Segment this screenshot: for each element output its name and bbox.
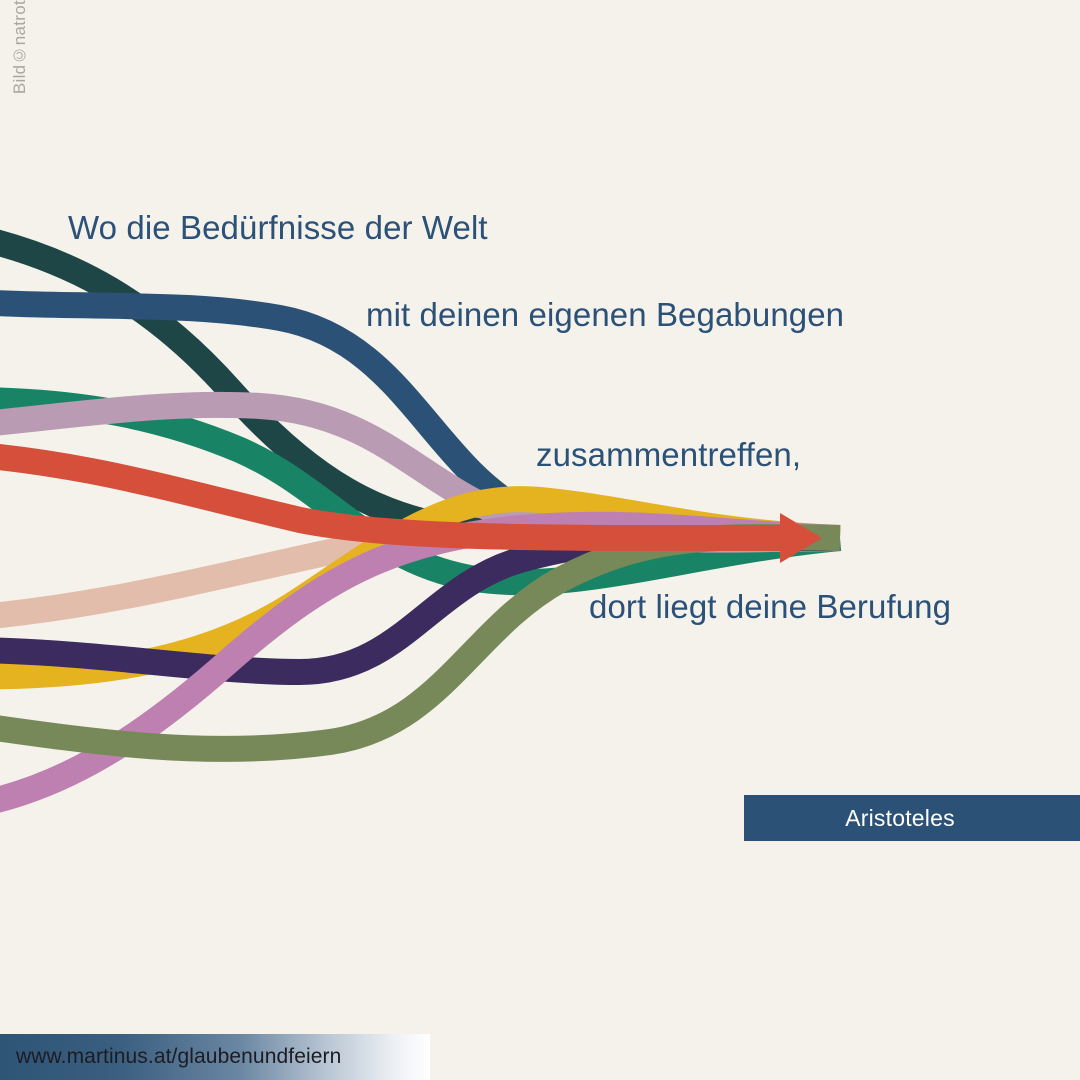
dark-teal-ribbon: [0, 230, 840, 538]
arrow-head-icon: [780, 513, 822, 563]
footer-url-bar[interactable]: www.martinus.at/glaubenundfeiern: [0, 1034, 430, 1080]
ribbon-graphic: [0, 0, 1080, 1080]
footer-url-label: www.martinus.at/glaubenundfeiern: [0, 1045, 341, 1069]
quote-line-1: Wo die Bedürfnisse der Welt: [68, 209, 488, 247]
attribution-badge: Aristoteles: [744, 795, 1080, 841]
quote-line-3: zusammentreffen,: [536, 436, 801, 474]
quote-line-2: mit deinen eigenen Begabungen: [366, 296, 844, 334]
poster-canvas: Bild©natrot Wo die Bedürfnisse der Welt …: [0, 0, 1080, 1080]
attribution-label: Aristoteles: [845, 805, 979, 832]
quote-line-4: dort liegt deine Berufung: [589, 588, 951, 626]
